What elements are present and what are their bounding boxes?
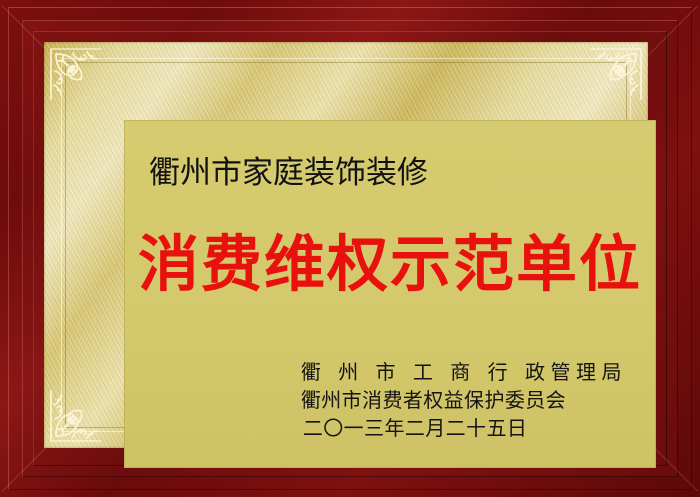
gold-mat: 衢州市家庭装饰装修 消费维权示范单位 衢 州 市 工 商 行 政管理局 衢州市消… xyxy=(44,42,648,448)
award-plaque: 衢州市家庭装饰装修 消费维权示范单位 衢 州 市 工 商 行 政管理局 衢州市消… xyxy=(0,0,700,497)
issue-date: 二〇一三年二月二十五日 xyxy=(301,414,627,442)
frame-mitre-top-right xyxy=(648,5,698,55)
plaque-main-title: 消费维权示范单位 xyxy=(124,234,656,295)
inner-panel: 衢州市家庭装饰装修 消费维权示范单位 衢 州 市 工 商 行 政管理局 衢州市消… xyxy=(124,120,656,468)
issuing-authority-primary: 衢 州 市 工 商 行 政管理局 xyxy=(301,358,627,386)
corner-flourish-icon xyxy=(47,45,105,103)
corner-flourish-icon xyxy=(47,387,105,445)
signature-block: 衢 州 市 工 商 行 政管理局 衢州市消费者权益保护委员会 二〇一三年二月二十… xyxy=(301,358,627,442)
plaque-heading: 衢州市家庭装饰装修 xyxy=(149,147,428,192)
issuing-authority-secondary: 衢州市消费者权益保护委员会 xyxy=(301,386,627,414)
frame-mitre-bottom-left xyxy=(2,441,52,491)
corner-flourish-icon xyxy=(587,45,645,103)
